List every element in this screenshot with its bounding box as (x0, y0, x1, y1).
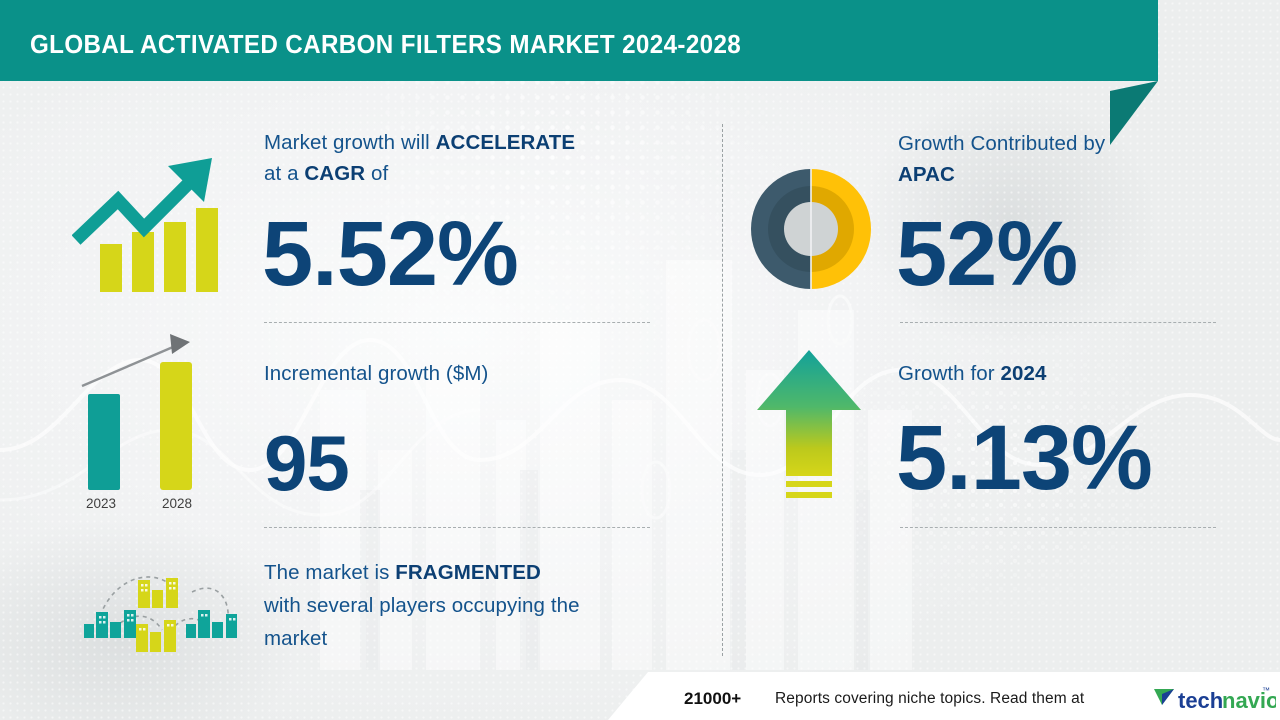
cagr-line2-suffix: of (365, 162, 388, 185)
growth-2024-value: 5.13% (896, 412, 1152, 504)
cagr-line1-prefix: Market growth will (264, 131, 436, 154)
trademark-symbol: ™ (1262, 686, 1270, 695)
footer-report-count: 21000+ (684, 689, 741, 709)
growth-2024-prefix: Growth for (898, 362, 1001, 385)
cagr-line2-bold: CAGR (304, 162, 365, 185)
fragmentation-line-1: The market is FRAGMENTED (264, 557, 541, 588)
growth-arrow-bars-icon (72, 152, 232, 292)
fragmentation-line1-prefix: The market is (264, 561, 395, 584)
divider-right-2 (900, 527, 1216, 528)
cagr-value: 5.52% (262, 208, 518, 300)
growth-2024-line-1: Growth for 2024 (898, 358, 1047, 389)
technavio-logo-mark (1154, 689, 1174, 705)
footer-tagline: Reports covering niche topics. Read them… (775, 690, 1084, 708)
donut-chart-icon (746, 164, 876, 294)
divider-right-1 (900, 322, 1216, 323)
apac-line-1: Growth Contributed by (898, 128, 1105, 159)
column-divider (722, 124, 723, 656)
incremental-growth-label: Incremental growth ($M) (264, 358, 488, 389)
technavio-logo[interactable]: tech navio (1152, 685, 1276, 715)
city-clusters-icon (70, 558, 246, 656)
apac-value: 52% (896, 208, 1077, 300)
fragmentation-line1-bold: FRAGMENTED (395, 561, 541, 584)
page-title: GLOBAL ACTIVATED CARBON FILTERS MARKET 2… (30, 29, 741, 60)
divider-left-2 (264, 527, 650, 528)
incremental-growth-value: 95 (264, 424, 349, 502)
svg-text:tech: tech (1178, 688, 1223, 713)
bar-label-2028: 2028 (162, 496, 192, 511)
infographic-canvas: GLOBAL ACTIVATED CARBON FILTERS MARKET 2… (0, 0, 1280, 720)
growth-2024-year: 2024 (1001, 362, 1047, 385)
divider-left-1 (264, 322, 650, 323)
two-bar-chart-icon (72, 330, 232, 490)
apac-region-bold: APAC (898, 163, 955, 186)
up-arrow-icon (754, 348, 864, 504)
cagr-line2-prefix: at a (264, 162, 304, 185)
cagr-line-2: at a CAGR of (264, 158, 388, 189)
fragmentation-line-2: with several players occupying the (264, 590, 580, 621)
apac-line-2: APAC (898, 159, 955, 190)
fragmentation-line-3: market (264, 623, 327, 654)
cagr-line-1: Market growth will ACCELERATE (264, 127, 575, 158)
cagr-line1-bold: ACCELERATE (436, 131, 576, 154)
bar-label-2023: 2023 (86, 496, 116, 511)
